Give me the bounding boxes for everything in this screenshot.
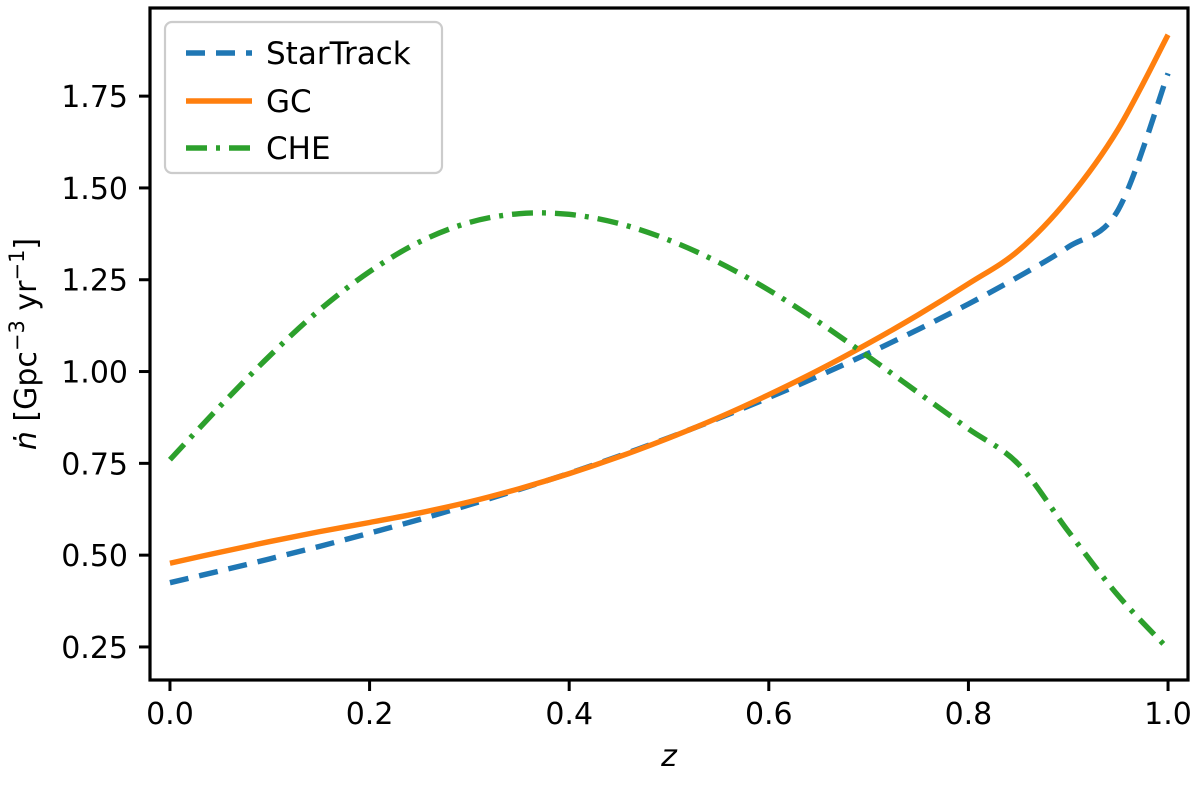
y-axis-ticks: 0.250.500.751.001.251.501.75 [61,80,150,666]
x-tick-label: 0.0 [146,697,194,732]
legend-label-gc[interactable]: GC [266,84,312,120]
y-tick-label: 1.25 [61,264,128,299]
x-axis-label: z [660,739,678,774]
y-tick-label: 1.00 [61,356,128,391]
x-tick-label: 1.0 [1144,697,1192,732]
x-axis-label-text: z [660,739,678,774]
y-axis-label: ṅ [Gpc−3 yr−1] [5,238,44,450]
legend-label-che[interactable]: CHE [266,131,331,167]
y-tick-label: 0.50 [61,539,128,574]
y-tick-label: 0.25 [61,631,128,666]
x-tick-label: 0.8 [945,697,993,732]
x-tick-label: 0.4 [545,697,593,732]
x-axis-ticks: 0.00.20.40.60.81.0 [146,680,1192,732]
x-tick-label: 0.6 [745,697,793,732]
legend-label-startrack[interactable]: StarTrack [266,36,411,72]
y-tick-label: 0.75 [61,447,128,482]
legend: StarTrackGCCHE [165,22,442,173]
x-tick-label: 0.2 [346,697,394,732]
y-tick-label: 1.75 [61,80,128,115]
figure-canvas: 0.00.20.40.60.81.0 0.250.500.751.001.251… [0,0,1200,787]
y-tick-label: 1.50 [61,172,128,207]
chart-svg: 0.00.20.40.60.81.0 0.250.500.751.001.251… [0,0,1200,787]
